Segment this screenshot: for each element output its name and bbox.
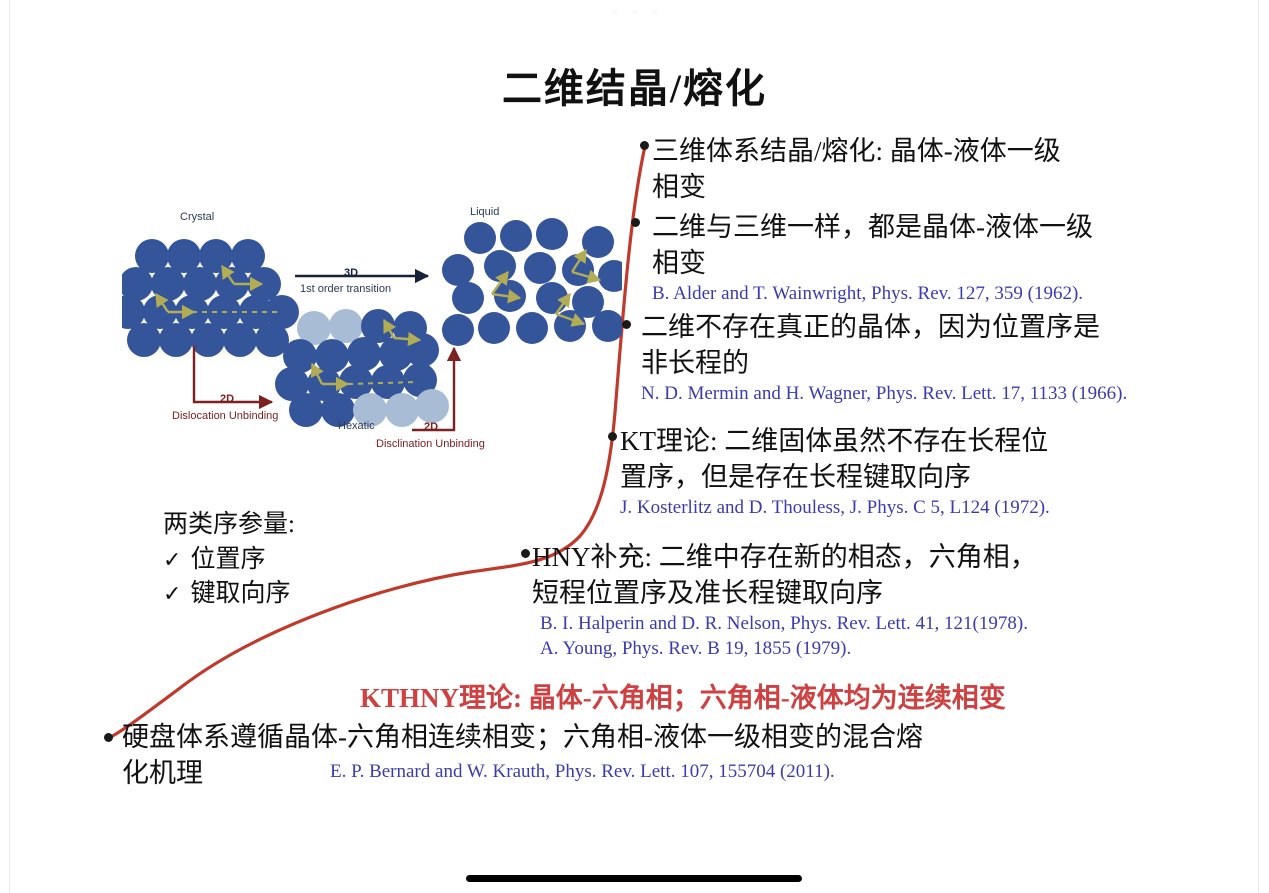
home-indicator-bar[interactable]	[466, 875, 802, 882]
order-note-item-1-label: 键取向序	[190, 580, 290, 607]
bullet-5-citation-2: A. Young, Phys. Rev. B 19, 1855 (1979).	[540, 637, 1037, 662]
bullet-item-6: 硬盘体系遵循晶体-六角相连续相变；六角相-液体一级相变的混合熔 化机理 E. P…	[122, 720, 1122, 785]
bullet-4-line-1: KT理论: 二维固体虽然不存在长程位	[620, 424, 1050, 460]
bullet-3-citation-1: N. D. Mermin and H. Wagner, Phys. Rev. L…	[641, 382, 1127, 407]
kthny-highlight-text: KTHNY理论: 晶体-六角相；六角相-液体均为连续相变	[360, 676, 1006, 715]
status-dots-indicator	[612, 7, 658, 17]
bullet-3-line-2: 非长程的	[641, 346, 1127, 382]
check-icon: ✓	[163, 547, 181, 572]
figure-label-crystal: Crystal	[180, 211, 214, 223]
slide-canvas: 二维结晶/熔化	[0, 0, 1269, 893]
bullet-4-citation-1: J. Kosterlitz and D. Thouless, J. Phys. …	[620, 496, 1050, 521]
phase-diagram-figure: Crystal Liquid Hexatic 3D 1st order tran…	[122, 198, 622, 448]
figure-arrow-sublabel-2d-left: Dislocation Unbinding	[172, 410, 278, 422]
bullet-6-line-1: 硬盘体系遵循晶体-六角相连续相变；六角相-液体一级相变的混合熔	[122, 720, 1052, 756]
bullet-2-line-1: 二维与三维一样，都是晶体-液体一级	[652, 210, 1093, 246]
check-icon: ✓	[163, 581, 181, 606]
bullet-3-line-1: 二维不存在真正的晶体，因为位置序是	[641, 310, 1127, 346]
bullet-1-line-2: 相变	[652, 170, 1061, 206]
bullet-item-4: KT理论: 二维固体虽然不存在长程位 置序，但是存在长程键取向序 J. Kost…	[620, 424, 1050, 521]
bullet-item-2: 二维与三维一样，都是晶体-液体一级 相变 B. Alder and T. Wai…	[652, 210, 1093, 307]
bullet-marker-3	[622, 320, 631, 329]
bullet-marker-6	[104, 733, 113, 742]
figure-arrow-sublabel-2d-right: Disclination Unbinding	[376, 438, 485, 450]
figure-label-liquid: Liquid	[470, 206, 499, 218]
bullet-5-citation-1: B. I. Halperin and D. R. Nelson, Phys. R…	[540, 612, 1037, 637]
bullet-marker-5	[521, 549, 530, 558]
status-dot-3	[652, 9, 658, 15]
bullet-5-line-1: HNY补充: 二维中存在新的相态，六角相，	[532, 540, 1037, 576]
bullet-marker-1	[640, 141, 649, 150]
page-right-border	[1258, 0, 1259, 893]
status-dot-1	[612, 9, 618, 15]
bullet-item-1: 三维体系结晶/熔化: 晶体-液体一级 相变	[652, 134, 1061, 206]
bullet-5-line-2: 短程位置序及准长程键取向序	[532, 576, 1037, 612]
page-left-border	[9, 0, 10, 893]
bullet-6-citation-1: E. P. Bernard and W. Krauth, Phys. Rev. …	[330, 760, 1122, 785]
bullet-1-line-1: 三维体系结晶/熔化: 晶体-液体一级	[652, 134, 1061, 170]
bullet-2-citation-1: B. Alder and T. Wainwright, Phys. Rev. 1…	[652, 282, 1093, 307]
figure-arrow-label-2d-right: 2D	[424, 421, 438, 433]
bullet-marker-2	[631, 218, 640, 227]
figure-label-hexatic: Hexatic	[338, 420, 375, 432]
figure-arrow-label-3d: 3D	[344, 267, 358, 279]
bullet-item-5: HNY补充: 二维中存在新的相态，六角相， 短程位置序及准长程键取向序 B. I…	[532, 540, 1037, 661]
order-note-heading: 两类序参量:	[163, 508, 295, 543]
order-parameter-note: 两类序参量: ✓位置序 ✓键取向序	[163, 508, 295, 612]
status-dot-2	[632, 9, 638, 15]
order-note-item-1: ✓键取向序	[163, 577, 295, 612]
bullet-4-line-2: 置序，但是存在长程键取向序	[620, 460, 1050, 496]
figure-arrow-sublabel-3d: 1st order transition	[300, 283, 391, 295]
page-title: 二维结晶/熔化	[0, 56, 1269, 114]
bullet-2-line-2: 相变	[652, 246, 1093, 282]
order-note-item-0: ✓位置序	[163, 543, 295, 578]
figure-arrow-label-2d-left: 2D	[220, 393, 234, 405]
bullet-item-3: 二维不存在真正的晶体，因为位置序是 非长程的 N. D. Mermin and …	[641, 310, 1127, 407]
order-note-item-0-label: 位置序	[190, 546, 265, 573]
